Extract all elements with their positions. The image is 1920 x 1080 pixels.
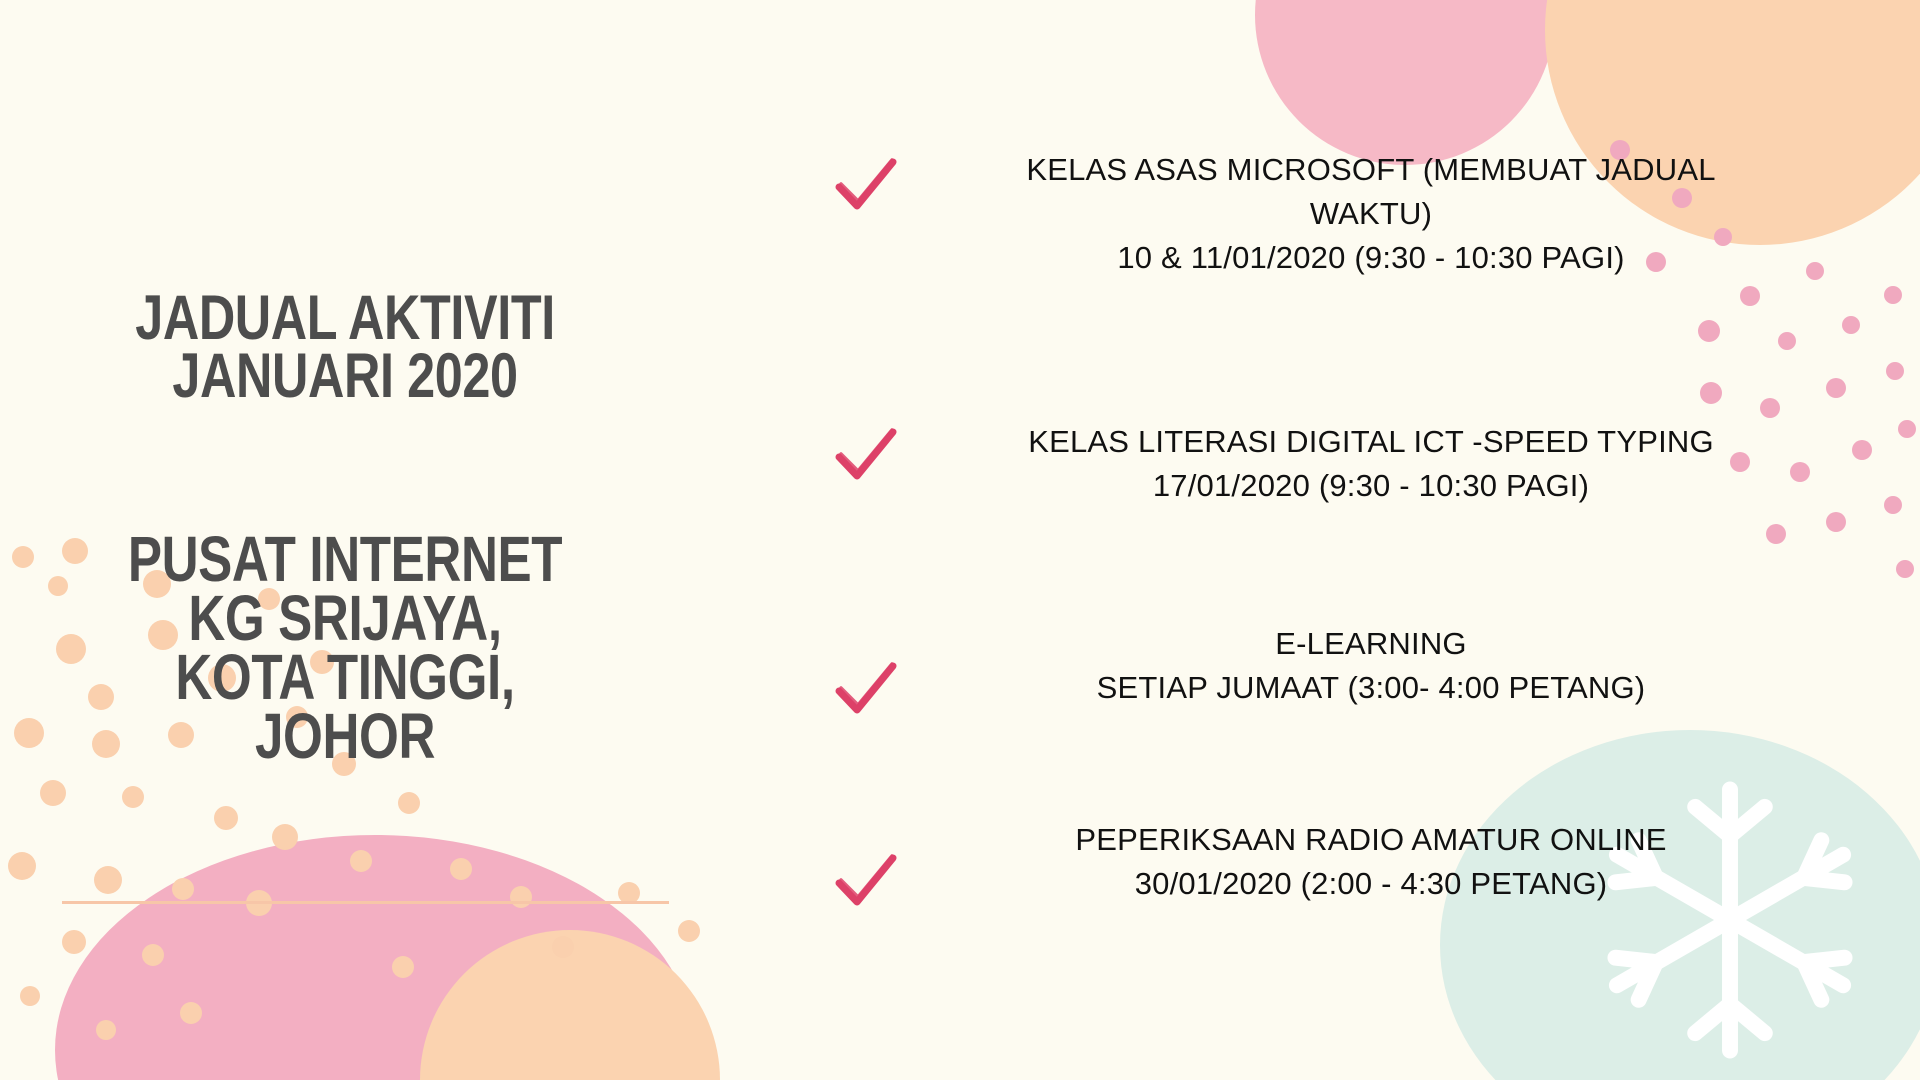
- check-icon-wrap: [820, 622, 912, 720]
- venue-line-2: KG SRIJAYA,: [101, 589, 589, 648]
- activity-line: 17/01/2020 (9:30 - 10:30 PAGI): [912, 464, 1830, 508]
- title-line-1: JADUAL AKTIVITI: [101, 290, 589, 348]
- check-icon: [831, 424, 901, 486]
- activity-line: E-LEARNING: [912, 622, 1830, 666]
- activity-list: KELAS ASAS MICROSOFT (MEMBUAT JADUAL WAK…: [820, 0, 1920, 1080]
- activity-line: 30/01/2020 (2:00 - 4:30 PETANG): [912, 862, 1830, 906]
- check-icon: [831, 850, 901, 912]
- left-column: JADUAL AKTIVITI JANUARI 2020 PUSAT INTER…: [0, 0, 700, 1080]
- activity-text: E-LEARNING SETIAP JUMAAT (3:00- 4:00 PET…: [912, 622, 1830, 710]
- poster-title: JADUAL AKTIVITI JANUARI 2020: [40, 290, 650, 406]
- check-icon: [831, 658, 901, 720]
- activity-line: KELAS ASAS MICROSOFT (MEMBUAT JADUAL: [912, 148, 1830, 192]
- activity-line: SETIAP JUMAAT (3:00- 4:00 PETANG): [912, 666, 1830, 710]
- activity-line: 10 & 11/01/2020 (9:30 - 10:30 PAGI): [912, 236, 1830, 280]
- activity-line: PEPERIKSAAN RADIO AMATUR ONLINE: [912, 818, 1830, 862]
- poster-canvas: JADUAL AKTIVITI JANUARI 2020 PUSAT INTER…: [0, 0, 1920, 1080]
- venue-line-1: PUSAT INTERNET: [101, 530, 589, 589]
- activity-text: PEPERIKSAAN RADIO AMATUR ONLINE 30/01/20…: [912, 818, 1830, 906]
- activity-line: KELAS LITERASI DIGITAL ICT -SPEED TYPING: [912, 420, 1830, 464]
- check-icon-wrap: [820, 148, 912, 216]
- activity-line: WAKTU): [912, 192, 1830, 236]
- venue-line-3: KOTA TINGGI,: [101, 648, 589, 707]
- venue-address: PUSAT INTERNET KG SRIJAYA, KOTA TINGGI, …: [40, 530, 650, 766]
- check-icon-wrap: [820, 420, 912, 486]
- activity-text: KELAS LITERASI DIGITAL ICT -SPEED TYPING…: [912, 420, 1830, 508]
- venue-line-4: JOHOR: [101, 707, 589, 766]
- activity-item: PEPERIKSAAN RADIO AMATUR ONLINE 30/01/20…: [820, 818, 1830, 912]
- check-icon: [831, 154, 901, 216]
- activity-item: KELAS ASAS MICROSOFT (MEMBUAT JADUAL WAK…: [820, 148, 1830, 280]
- check-icon-wrap: [820, 818, 912, 912]
- activity-item: KELAS LITERASI DIGITAL ICT -SPEED TYPING…: [820, 420, 1830, 508]
- activity-item: E-LEARNING SETIAP JUMAAT (3:00- 4:00 PET…: [820, 622, 1830, 720]
- activity-text: KELAS ASAS MICROSOFT (MEMBUAT JADUAL WAK…: [912, 148, 1830, 280]
- title-line-2: JANUARI 2020: [101, 348, 589, 406]
- title-divider: [62, 901, 669, 904]
